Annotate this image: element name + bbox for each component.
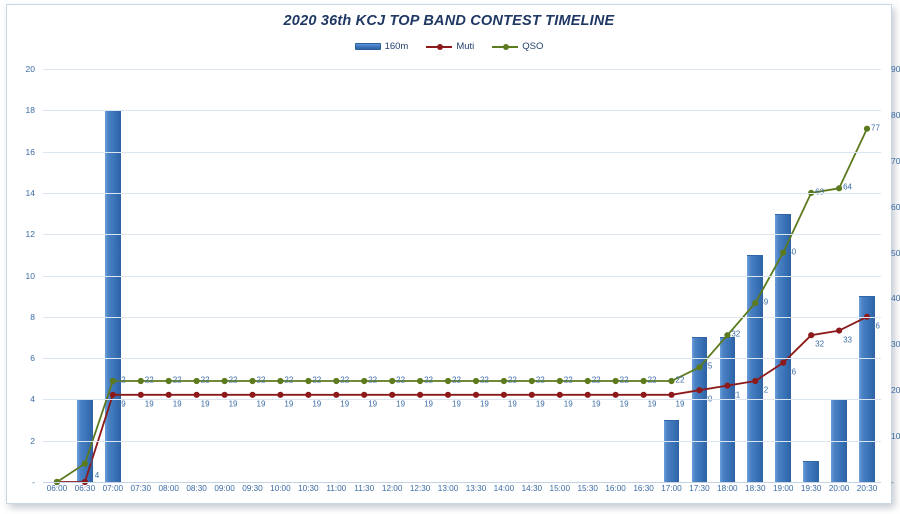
- x-axis-tick: 12:00: [382, 484, 403, 493]
- point-data-label-muti: 19: [508, 399, 517, 408]
- point-data-label-muti: 19: [145, 399, 154, 408]
- point-data-label-qso: 22: [229, 376, 238, 385]
- point-data-label-qso: 77: [871, 123, 880, 132]
- x-axis-tick: 10:30: [298, 484, 319, 493]
- point-data-label-muti: 19: [340, 399, 349, 408]
- grid-line: [43, 317, 881, 318]
- point-data-label-qso: 22: [201, 376, 210, 385]
- x-axis-tick: 07:00: [103, 484, 124, 493]
- x-axis-tick: 13:00: [438, 484, 459, 493]
- point-data-label-muti: 36: [871, 321, 880, 330]
- y-axis-left-tick: 18: [26, 105, 35, 115]
- point-data-label-qso: 22: [676, 376, 685, 385]
- point-data-label-muti: 19: [536, 399, 545, 408]
- point-data-label-qso: 64: [843, 183, 852, 192]
- y-axis-right-tick: 60: [891, 202, 900, 212]
- y-axis-right-tick: 50: [891, 248, 900, 258]
- legend-label: Muti: [456, 41, 474, 52]
- x-axis-tick: 19:00: [773, 484, 794, 493]
- bar-data-label: 4: [95, 471, 99, 480]
- point-data-label-qso: 22: [648, 376, 657, 385]
- x-axis-tick: 10:00: [270, 484, 291, 493]
- point-data-label-muti: 19: [452, 399, 461, 408]
- screenshot-root: 2020 36th KCJ TOP BAND CONTEST TIMELINE …: [0, 0, 900, 514]
- grid-line: [43, 399, 881, 400]
- chart-title: 2020 36th KCJ TOP BAND CONTEST TIMELINE: [7, 13, 891, 29]
- point-data-label-muti: 19: [648, 399, 657, 408]
- grid-line: [43, 276, 881, 277]
- point-data-label-muti: 19: [117, 399, 126, 408]
- point-data-label-qso: 22: [536, 376, 545, 385]
- grid-line: [43, 69, 881, 70]
- grid-line: [43, 193, 881, 194]
- point-data-label-qso: 50: [787, 247, 796, 256]
- x-axis-tick: 11:00: [326, 484, 346, 493]
- x-axis-tick: 09:00: [214, 484, 235, 493]
- y-axis-right-tick: 30: [891, 339, 900, 349]
- y-axis-left-tick: 4: [30, 394, 35, 404]
- x-axis-tick: 18:30: [745, 484, 766, 493]
- point-data-label-qso: 63: [815, 187, 824, 196]
- x-axis-tick: 08:30: [186, 484, 207, 493]
- grid-line: [43, 358, 881, 359]
- point-data-label-muti: 19: [592, 399, 601, 408]
- point-data-label-qso: 22: [424, 376, 433, 385]
- point-data-label-muti: 19: [564, 399, 573, 408]
- x-axis-tick: 16:00: [605, 484, 626, 493]
- legend-swatch-line-icon: [492, 43, 518, 51]
- grid-line: [43, 152, 881, 153]
- point-data-label-qso: 22: [396, 376, 405, 385]
- y-axis-right-tick: -: [891, 477, 894, 487]
- y-axis-left-tick: 8: [30, 312, 35, 322]
- x-axis-tick: 20:00: [829, 484, 850, 493]
- point-data-label-qso: 22: [340, 376, 349, 385]
- x-axis-tick: 11:30: [354, 484, 374, 493]
- grid-line: [43, 441, 881, 442]
- x-axis-tick: 09:30: [242, 484, 263, 493]
- point-data-label-muti: 32: [815, 340, 824, 349]
- x-axis-tick: 17:00: [661, 484, 682, 493]
- point-data-label-muti: 19: [229, 399, 238, 408]
- point-data-label-muti: 19: [424, 399, 433, 408]
- legend-label: QSO: [522, 41, 543, 52]
- point-data-label-muti: 22: [759, 386, 768, 395]
- point-data-label-muti: 19: [396, 399, 405, 408]
- point-data-label-qso: 22: [312, 376, 321, 385]
- grid-line: [43, 110, 881, 111]
- x-axis: 06:0006:3007:0007:3008:0008:3009:0009:30…: [43, 482, 881, 502]
- x-axis-tick: 19:30: [801, 484, 822, 493]
- x-axis-tick: 06:30: [75, 484, 96, 493]
- x-axis-tick: 15:00: [550, 484, 571, 493]
- point-data-label-qso: 22: [592, 376, 601, 385]
- y-axis-left-tick: -: [32, 477, 35, 487]
- y-axis-left-tick: 2: [30, 436, 35, 446]
- x-axis-tick: 14:30: [522, 484, 543, 493]
- point-data-label-qso: 22: [564, 376, 573, 385]
- point-data-label-qso: 22: [508, 376, 517, 385]
- point-data-label-muti: 21: [731, 390, 740, 399]
- legend-item-qso[interactable]: QSO: [492, 41, 543, 52]
- point-data-label-qso: 22: [117, 376, 126, 385]
- plot-area: 4191919191919191919191919191919191919191…: [43, 69, 881, 482]
- point-data-label-qso: 22: [257, 376, 266, 385]
- y-axis-right-tick: 40: [891, 293, 900, 303]
- x-axis-tick: 17:30: [689, 484, 710, 493]
- point-data-label-muti: 19: [368, 399, 377, 408]
- y-axis-right-tick: 10: [891, 431, 900, 441]
- x-axis-tick: 18:00: [717, 484, 738, 493]
- y-axis-left-tick: 14: [26, 188, 35, 198]
- y-axis-left-tick: 20: [26, 64, 35, 74]
- point-data-label-qso: 4: [89, 458, 93, 467]
- x-axis-tick: 14:00: [494, 484, 515, 493]
- y-axis-right-tick: 80: [891, 110, 900, 120]
- point-data-label-muti: 19: [201, 399, 210, 408]
- point-data-label-qso: 22: [620, 376, 629, 385]
- x-axis-tick: 15:30: [577, 484, 598, 493]
- x-axis-tick: 06:00: [47, 484, 68, 493]
- point-data-label-muti: 19: [620, 399, 629, 408]
- x-axis-tick: 12:30: [410, 484, 431, 493]
- point-data-label-muti: 33: [843, 335, 852, 344]
- point-data-label-qso: 25: [703, 362, 712, 371]
- x-axis-tick: 16:30: [633, 484, 654, 493]
- chart-legend: 160mMutiQSO: [7, 41, 891, 52]
- point-data-label-muti: 19: [257, 399, 266, 408]
- point-data-label-qso: 39: [759, 298, 768, 307]
- chart-frame: 2020 36th KCJ TOP BAND CONTEST TIMELINE …: [6, 4, 892, 504]
- point-data-label-muti: 19: [312, 399, 321, 408]
- point-data-label-qso: 22: [480, 376, 489, 385]
- point-data-label-qso: 22: [284, 376, 293, 385]
- x-axis-tick: 08:00: [158, 484, 179, 493]
- point-data-label-muti: 19: [480, 399, 489, 408]
- point-data-label-muti: 19: [173, 399, 182, 408]
- point-data-label-qso: 32: [731, 330, 740, 339]
- y-axis-left-tick: 12: [26, 229, 35, 239]
- y-axis-left-tick: 10: [26, 271, 35, 281]
- y-axis-left-tick: 6: [30, 353, 35, 363]
- point-data-label-muti: 26: [787, 367, 796, 376]
- x-axis-tick: 07:30: [131, 484, 152, 493]
- y-axis-right-tick: 70: [891, 156, 900, 166]
- grid-line: [43, 234, 881, 235]
- point-data-label-muti: 19: [284, 399, 293, 408]
- legend-swatch-bar-icon: [355, 43, 381, 50]
- legend-label: 160m: [385, 41, 409, 52]
- x-axis-tick: 13:30: [466, 484, 487, 493]
- legend-item-160m[interactable]: 160m: [355, 41, 409, 52]
- legend-swatch-line-icon: [426, 43, 452, 51]
- y-axis-left-tick: 16: [26, 147, 35, 157]
- point-data-label-qso: 22: [145, 376, 154, 385]
- x-axis-tick: 20:30: [857, 484, 878, 493]
- legend-item-muti[interactable]: Muti: [426, 41, 474, 52]
- y-axis-right-tick: 90: [891, 64, 900, 74]
- point-data-label-qso: 22: [368, 376, 377, 385]
- point-data-label-muti: 19: [676, 399, 685, 408]
- point-data-label-qso: 22: [452, 376, 461, 385]
- point-data-label-qso: 22: [173, 376, 182, 385]
- y-axis-right-tick: 20: [891, 385, 900, 395]
